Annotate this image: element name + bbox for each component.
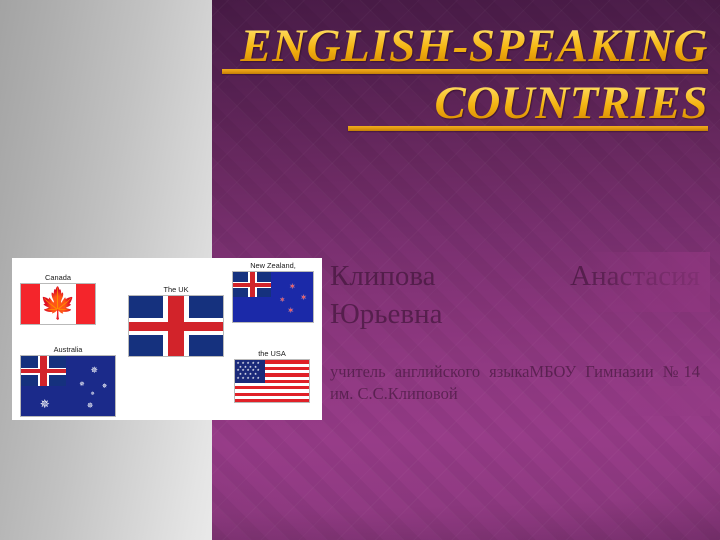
flag-usa-graphic: ★ ★ ★ ★ ★ ★ ★ ★ ★ ★ ★ ★ ★ ★ ★ ★ ★	[234, 359, 310, 403]
usa-star: ★	[242, 377, 245, 381]
title-line-2: COUNTRIES	[348, 79, 708, 128]
australia-union-jack	[21, 356, 66, 386]
southern-cross-star-1: ✶	[289, 283, 296, 291]
southern-cross-star-4: ✶	[287, 307, 294, 315]
union-jack-icon	[233, 272, 271, 297]
title-line-1-group: ENGLISH-SPEAKING	[222, 22, 708, 74]
flag-new-zealand-label: New Zealand,	[232, 262, 314, 269]
commonwealth-star: ✵	[40, 398, 50, 410]
canada-left-band	[21, 284, 40, 324]
southern-cross-star-3: ✶	[279, 297, 285, 304]
crux-star-2: ✵	[79, 382, 84, 389]
flag-uk: The UK	[128, 286, 224, 357]
flag-canada: Canada 🍁	[20, 274, 96, 325]
canada-right-band	[76, 284, 95, 324]
flag-new-zealand: New Zealand, ✶ ✶ ✶	[232, 262, 314, 323]
uj-cross-v-red	[40, 356, 46, 386]
new-zealand-union-jack	[233, 272, 271, 297]
crux-star-1: ✵	[91, 366, 99, 375]
usa-stripe	[235, 393, 309, 396]
usa-stripe	[235, 386, 309, 389]
author-block: Клипова Анастасия Юрьевна учитель англий…	[330, 258, 700, 404]
usa-canton: ★ ★ ★ ★ ★ ★ ★ ★ ★ ★ ★ ★ ★ ★ ★ ★ ★	[235, 360, 265, 383]
usa-star: ★	[257, 377, 260, 381]
crux-star-3: ✵	[102, 384, 107, 391]
usa-star: ★	[252, 377, 255, 381]
flag-australia: Australia ✵ ✵ ✵ ✵	[20, 346, 116, 417]
presentation-slide: ENGLISH-SPEAKING COUNTRIES Клипова Анаст…	[0, 0, 720, 540]
flag-uk-graphic	[128, 295, 224, 357]
flag-usa-label: the USA	[234, 350, 310, 357]
flag-usa: the USA ★ ★ ★ ★ ★ ★ ★ ★ ★	[234, 350, 310, 403]
slide-title: ENGLISH-SPEAKING COUNTRIES	[222, 22, 708, 136]
union-jack-icon	[21, 356, 66, 386]
title-line-2-group: COUNTRIES	[348, 79, 708, 131]
union-jack-icon	[129, 296, 223, 356]
flag-new-zealand-graphic: ✶ ✶ ✶ ✶	[232, 271, 314, 323]
maple-leaf-stem	[57, 309, 58, 320]
crux-star-4: ✵	[91, 392, 95, 397]
flag-canada-graphic: 🍁	[20, 283, 96, 325]
usa-star: ★	[247, 377, 250, 381]
uj-cross-v-red	[168, 296, 183, 356]
crux-star-5: ✵	[87, 402, 94, 410]
southern-cross-star-2: ✶	[300, 294, 307, 302]
title-line-1: ENGLISH-SPEAKING	[222, 22, 708, 71]
usa-stripe	[235, 399, 309, 402]
author-name: Клипова Анастасия Юрьевна	[330, 258, 700, 333]
uj-cross-v-red	[250, 272, 255, 297]
flag-canada-label: Canada	[20, 274, 96, 281]
author-role: учитель английского языкаМБОУ Гимназии №…	[330, 361, 700, 404]
flag-uk-label: The UK	[128, 286, 224, 293]
flags-image[interactable]: Canada 🍁 Australia	[12, 258, 322, 420]
flag-australia-graphic: ✵ ✵ ✵ ✵ ✵ ✵	[20, 355, 116, 417]
flag-australia-label: Australia	[20, 346, 116, 353]
usa-star: ★	[236, 377, 239, 381]
